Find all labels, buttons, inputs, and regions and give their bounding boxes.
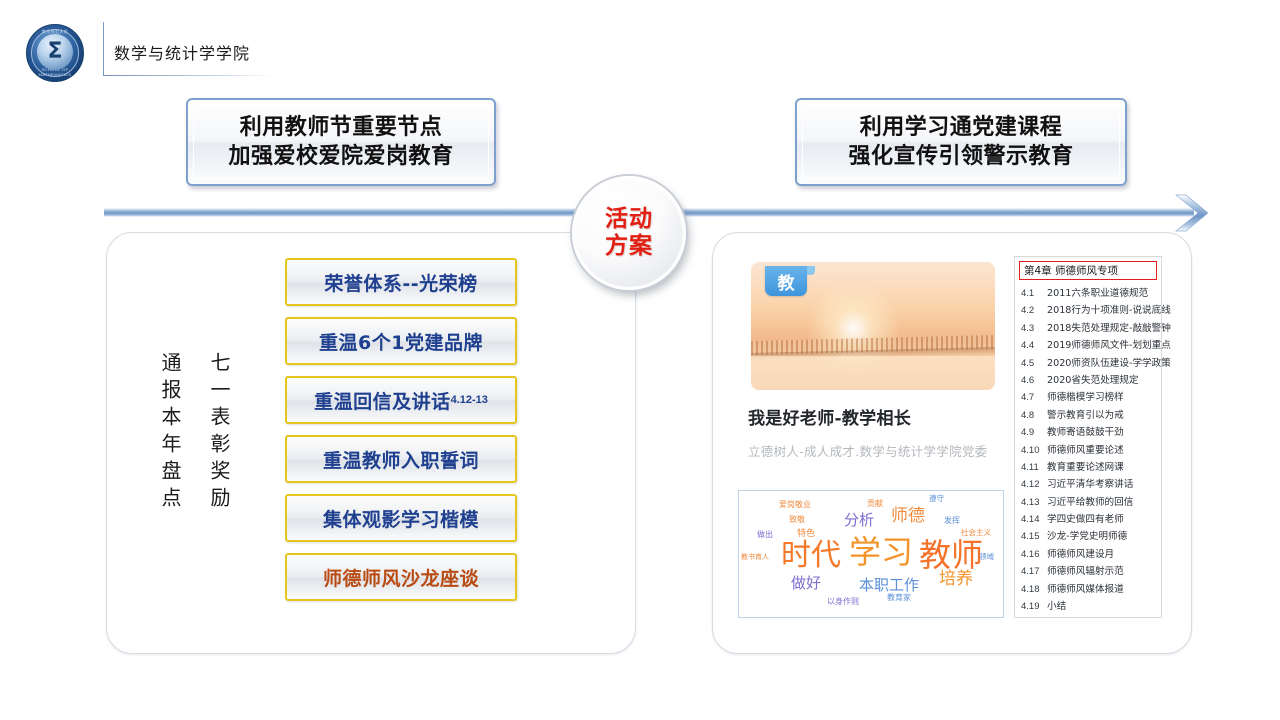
- chapter-item-label: 警示教育引以为戒: [1047, 407, 1124, 421]
- activity-pill[interactable]: 重温教师入职誓词: [285, 435, 517, 483]
- course-card[interactable]: 教 我是好老师-教学相长 立德树人-成人成才.数学与统计学学院党委: [742, 258, 1004, 470]
- sigma-icon: Σ: [47, 41, 62, 63]
- chapter-item-number: 4.13: [1021, 497, 1047, 508]
- word-cloud-term: 本职工作: [859, 578, 919, 593]
- chapter-list-item[interactable]: 4.19小结: [1018, 598, 1158, 615]
- chapter-item-number: 4.8: [1021, 410, 1047, 421]
- chapter-item-number: 4.4: [1021, 340, 1047, 351]
- callout-left-inner: 利用教师节重要节点 加强爱校爱院爱岗教育: [193, 105, 489, 179]
- word-cloud-term: 分析: [844, 513, 874, 528]
- chapter-list-item[interactable]: 4.9教师寄语鼓鼓干劲: [1018, 424, 1158, 441]
- chapter-item-number: 4.2: [1021, 305, 1047, 316]
- chapter-item-label: 习近平清华考察讲话: [1047, 476, 1133, 490]
- center-badge-line2: 方案: [605, 234, 653, 260]
- activity-pill-label: 荣誉体系--光荣榜: [324, 269, 477, 296]
- word-cloud-term: 教书育人: [741, 554, 769, 561]
- chapter-list-panel: 第4章 师德师风专项 4.12011六条职业道德规范4.22018行为十项准则-…: [1014, 256, 1162, 618]
- chapter-item-number: 4.1: [1021, 288, 1047, 299]
- activity-pill-label: 集体观影学习楷模: [323, 505, 479, 532]
- chapter-item-number: 4.17: [1021, 566, 1047, 577]
- callout-left: 利用教师节重要节点 加强爱校爱院爱岗教育: [186, 98, 496, 186]
- chapter-item-label: 2019师德师风文件-划划重点: [1047, 337, 1171, 351]
- chapter-item-number: 4.10: [1021, 445, 1047, 456]
- activity-pill-label: 重温6个1党建品牌: [319, 328, 483, 355]
- chapter-item-number: 4.12: [1021, 479, 1047, 490]
- chapter-heading-box: 第4章 师德师风专项: [1019, 261, 1157, 280]
- callout-right-line1: 利用学习通党建课程: [860, 114, 1063, 142]
- course-type-badge: 教: [765, 266, 807, 296]
- chapter-list-item[interactable]: 4.7师德楷模学习榜样: [1018, 389, 1158, 406]
- water-reflection-shape: [751, 356, 995, 390]
- chapter-item-number: 4.19: [1021, 601, 1047, 612]
- word-cloud-term: 时代: [781, 541, 841, 571]
- callout-left-line1: 利用教师节重要节点: [240, 114, 443, 142]
- chapter-list-item[interactable]: 4.18师德师风媒体报道: [1018, 581, 1158, 598]
- word-cloud-term: 以身作则: [827, 598, 859, 606]
- word-cloud-term: 做出: [757, 531, 773, 539]
- course-type-badge-fold: [807, 266, 815, 275]
- activity-pill[interactable]: 荣誉体系--光荣榜: [285, 258, 517, 306]
- callout-left-line2: 加强爱校爱院爱岗教育: [228, 143, 453, 171]
- word-cloud-term: 领域: [979, 553, 994, 561]
- callout-right-inner: 利用学习通党建课程 强化宣传引领警示教育: [802, 105, 1120, 179]
- chapter-list-item[interactable]: 4.11教育重要论述网课: [1018, 459, 1158, 476]
- center-badge-line1: 活动: [605, 207, 653, 233]
- chapter-list-item[interactable]: 4.22018行为十项准则-说说底线: [1018, 302, 1158, 319]
- slide-header: 南京师范大学 SCHOOL OF MATHEMATICS Σ 数学与统计学学院: [0, 0, 1280, 92]
- course-thumbnail-image: 教: [751, 262, 995, 390]
- chapter-item-label: 2018行为十项准则-说说底线: [1047, 302, 1171, 316]
- chapter-item-label: 教育重要论述网课: [1047, 459, 1124, 473]
- chapter-item-label: 教师寄语鼓鼓干劲: [1047, 424, 1124, 438]
- chapter-item-label: 师德师风辐射示范: [1047, 563, 1124, 577]
- word-cloud-term: 学习: [849, 536, 913, 568]
- center-activity-badge: 活动 方案: [572, 176, 686, 290]
- word-cloud-term: 教育家: [887, 594, 911, 602]
- chapter-list-item[interactable]: 4.62020省失范处理规定: [1018, 372, 1158, 389]
- activity-pill-list: 荣誉体系--光荣榜重温6个1党建品牌重温回信及讲话4.12-13重温教师入职誓词…: [285, 258, 517, 612]
- chapter-item-number: 4.11: [1021, 462, 1047, 473]
- chapter-list-item[interactable]: 4.52020师资队伍建设-学学政策: [1018, 355, 1158, 372]
- left-vertical-label-2: 七一表彰奖励: [205, 352, 234, 514]
- activity-pill[interactable]: 师德师风沙龙座谈: [285, 553, 517, 601]
- chapter-list-item[interactable]: 4.12011六条职业道德规范: [1018, 285, 1158, 302]
- chapter-list-item[interactable]: 4.12习近平清华考察讲话: [1018, 476, 1158, 493]
- word-cloud-term: 爱岗敬业: [779, 501, 811, 509]
- chapter-item-label: 2020师资队伍建设-学学政策: [1047, 355, 1171, 369]
- activity-pill-date-superscript: 4.12-13: [451, 394, 488, 406]
- word-cloud: 爱岗敬业贡献遵守致敬分析师德发挥做出特色社会主义教书育人时代学习教师领域做好本职…: [738, 490, 1004, 618]
- chapter-list-item[interactable]: 4.8警示教育引以为戒: [1018, 407, 1158, 424]
- activity-pill[interactable]: 重温回信及讲话4.12-13: [285, 376, 517, 424]
- chapter-item-label: 师德师风建设月: [1047, 546, 1114, 560]
- activity-pill-label: 重温回信及讲话: [314, 387, 451, 414]
- chapter-item-label: 习近平给教师的回信: [1047, 494, 1133, 508]
- word-cloud-term: 遵守: [929, 495, 944, 503]
- left-vertical-label-1: 通报本年盘点: [156, 352, 185, 514]
- chapter-item-number: 4.6: [1021, 375, 1047, 386]
- chapter-item-number: 4.14: [1021, 514, 1047, 525]
- callout-right: 利用学习通党建课程 强化宣传引领警示教育: [795, 98, 1127, 186]
- word-cloud-term: 贡献: [867, 500, 883, 508]
- chapter-item-label: 学四史做四有老师: [1047, 511, 1124, 525]
- word-cloud-term: 培养: [939, 571, 973, 588]
- chapter-list-item[interactable]: 4.42019师德师风文件-划划重点: [1018, 337, 1158, 354]
- chapter-list-item[interactable]: 4.15沙龙-学党史明师德: [1018, 528, 1158, 545]
- chapter-item-label: 小结: [1047, 598, 1066, 612]
- chapter-list-item[interactable]: 4.17师德师风辐射示范: [1018, 563, 1158, 580]
- chapter-item-label: 师德楷模学习榜样: [1047, 389, 1124, 403]
- chapter-item-label: 2018失范处理规定-敲敲警钟: [1047, 320, 1171, 334]
- college-logo: 南京师范大学 SCHOOL OF MATHEMATICS Σ: [26, 24, 84, 82]
- page-title: 数学与统计学学院: [114, 40, 250, 64]
- chapter-item-label: 师德师风媒体报道: [1047, 581, 1124, 595]
- word-cloud-term: 致敬: [789, 516, 805, 524]
- chapter-item-label: 2011六条职业道德规范: [1047, 285, 1148, 299]
- chapter-item-number: 4.9: [1021, 427, 1047, 438]
- header-underline: [103, 75, 275, 76]
- callout-right-line2: 强化宣传引领警示教育: [848, 143, 1073, 171]
- course-subtitle: 立德树人-成人成才.数学与统计学学院党委: [748, 441, 1004, 460]
- chapter-item-number: 4.7: [1021, 392, 1047, 403]
- chapter-item-number: 4.3: [1021, 323, 1047, 334]
- activity-pill[interactable]: 集体观影学习楷模: [285, 494, 517, 542]
- header-divider: [103, 22, 104, 76]
- chapter-list-item[interactable]: 4.32018失范处理规定-敲敲警钟: [1018, 320, 1158, 337]
- chapter-item-number: 4.5: [1021, 358, 1047, 369]
- chapter-item-number: 4.18: [1021, 584, 1047, 595]
- chapter-item-number: 4.16: [1021, 549, 1047, 560]
- chapter-item-label: 沙龙-学党史明师德: [1047, 528, 1127, 542]
- activity-pill-label: 重温教师入职誓词: [323, 446, 479, 473]
- chapter-items-container: 4.12011六条职业道德规范4.22018行为十项准则-说说底线4.32018…: [1015, 285, 1161, 615]
- word-cloud-term: 发挥: [944, 517, 960, 525]
- chapter-list-item[interactable]: 4.14学四史做四有老师: [1018, 511, 1158, 528]
- word-cloud-term: 教师: [919, 539, 983, 571]
- activity-pill[interactable]: 重温6个1党建品牌: [285, 317, 517, 365]
- chapter-list-item[interactable]: 4.10师德师风重要论述: [1018, 442, 1158, 459]
- chapter-list-item[interactable]: 4.13习近平给教师的回信: [1018, 494, 1158, 511]
- logo-inner-disc: Σ: [37, 34, 73, 70]
- word-cloud-term: 做好: [791, 576, 821, 591]
- course-title: 我是好老师-教学相长: [748, 404, 1004, 429]
- chapter-item-number: 4.15: [1021, 531, 1047, 542]
- activity-pill-label: 师德师风沙龙座谈: [323, 564, 479, 591]
- chapter-item-label: 师德师风重要论述: [1047, 442, 1124, 456]
- slide-root: 南京师范大学 SCHOOL OF MATHEMATICS Σ 数学与统计学学院 …: [0, 0, 1280, 720]
- chapter-heading-text: 第4章 师德师风专项: [1024, 263, 1118, 278]
- chapter-list-item[interactable]: 4.16师德师风建设月: [1018, 546, 1158, 563]
- chapter-item-label: 2020省失范处理规定: [1047, 372, 1139, 386]
- word-cloud-term: 师德: [891, 508, 925, 525]
